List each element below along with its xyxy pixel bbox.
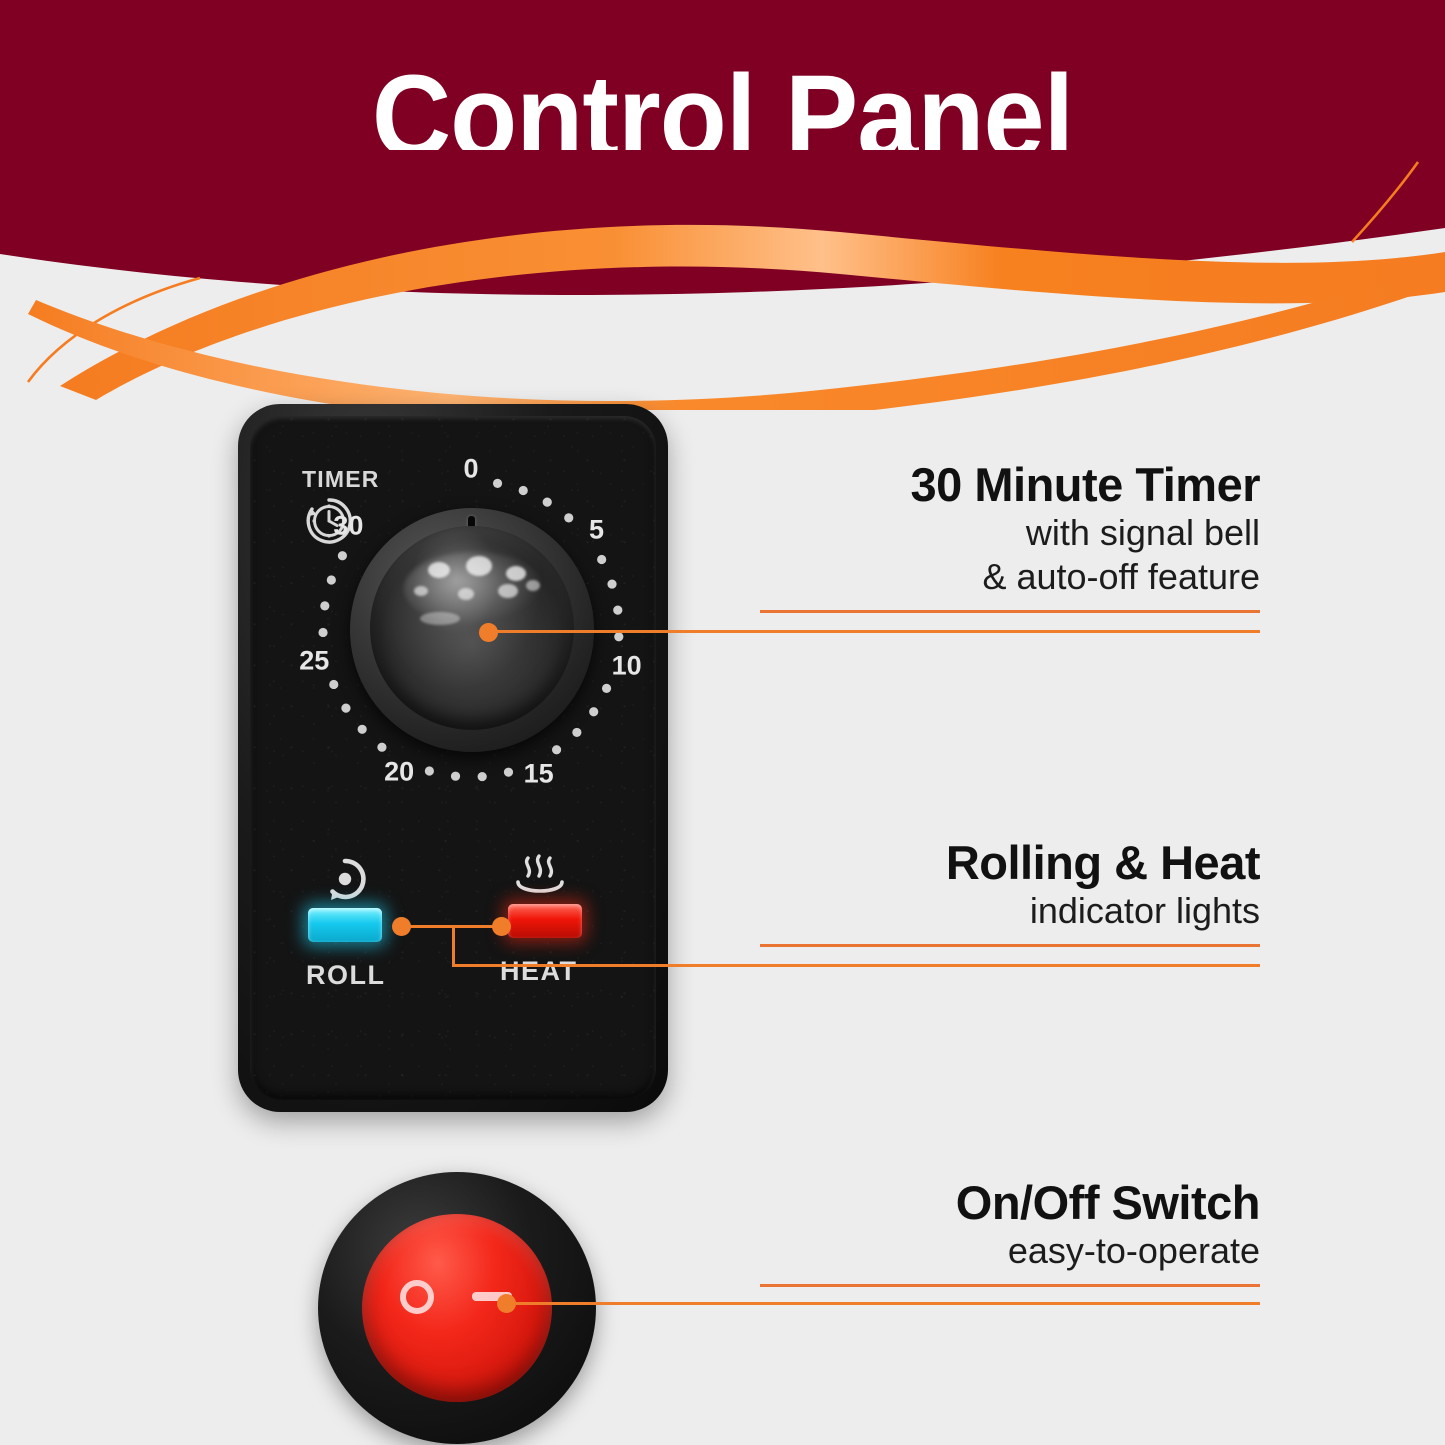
callout-timer-rule — [760, 610, 1260, 613]
callout-switch-sub-1: easy-to-operate — [760, 1229, 1260, 1273]
callout-switch-rule — [760, 1284, 1260, 1287]
callout-timer: 30 Minute Timer with signal bell & auto-… — [760, 460, 1260, 613]
callout-timer-sub-2: & auto-off feature — [760, 555, 1260, 599]
rocker-cap[interactable] — [362, 1214, 552, 1402]
roll-led — [308, 908, 382, 942]
connector-line-indicators-h — [401, 925, 501, 928]
power-off-symbol-icon — [400, 1280, 434, 1314]
dial-number-10: 10 — [612, 650, 642, 681]
callout-switch: On/Off Switch easy-to-operate — [760, 1178, 1260, 1287]
dial-number-15: 15 — [524, 759, 554, 790]
heat-label: HEAT — [500, 956, 578, 987]
knob-cap — [370, 526, 574, 730]
callout-switch-title: On/Off Switch — [760, 1178, 1260, 1229]
callout-timer-title: 30 Minute Timer — [760, 460, 1260, 511]
dial-number-25: 25 — [299, 646, 329, 677]
connector-line-indicators-v — [452, 925, 455, 967]
roll-label: ROLL — [306, 960, 386, 991]
heat-led — [508, 904, 582, 938]
rotation-icon — [322, 856, 368, 902]
connector-line-switch — [506, 1302, 1260, 1305]
callout-indicators-sub-1: indicator lights — [760, 889, 1260, 933]
dial-number-5: 5 — [589, 514, 604, 545]
callout-indicators-rule — [760, 944, 1260, 947]
power-rocker-switch[interactable] — [318, 1172, 596, 1444]
dial-number-20: 20 — [384, 756, 414, 787]
heat-waves-icon — [512, 852, 568, 902]
connector-line-timer — [488, 630, 1260, 633]
callout-indicators: Rolling & Heat indicator lights — [760, 838, 1260, 947]
infographic-canvas: Control Panel — [0, 0, 1445, 1445]
header-banner: Control Panel — [0, 0, 1445, 300]
callout-indicators-title: Rolling & Heat — [760, 838, 1260, 889]
timer-dial[interactable]: 051015202530 — [286, 444, 656, 814]
dial-number-30: 30 — [333, 511, 363, 542]
control-panel-faceplate: TIMER 051015202530 — [238, 404, 668, 1112]
callout-timer-sub-1: with signal bell — [760, 511, 1260, 555]
dial-number-0: 0 — [463, 454, 478, 485]
connector-line-indicators-out — [452, 964, 1260, 967]
page-title: Control Panel — [51, 56, 1395, 180]
